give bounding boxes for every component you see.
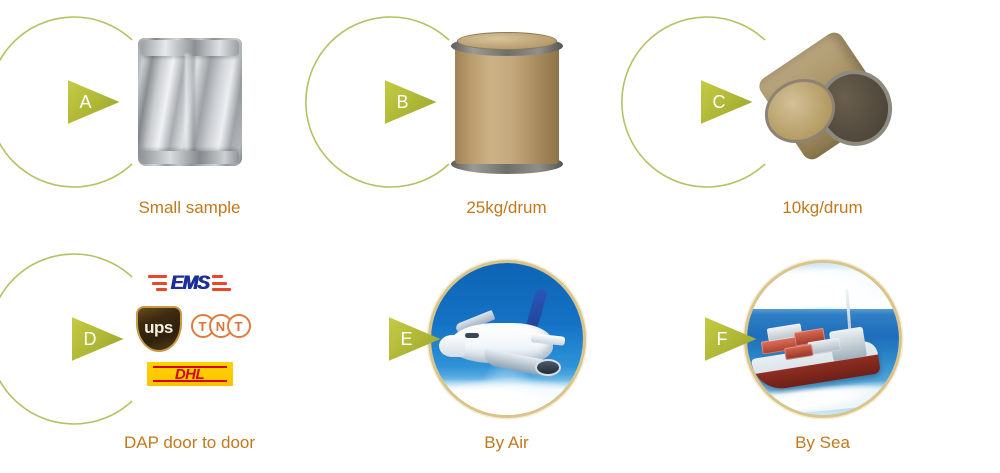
arrow-triangle-icon — [68, 80, 120, 124]
step-letter: D — [84, 330, 97, 348]
circle-badge-by-air: E — [419, 251, 595, 427]
cargo-plane-photo — [431, 263, 583, 415]
step-arrow-b: B — [385, 80, 437, 124]
step-arrow-a: A — [68, 80, 120, 124]
step-letter: A — [80, 93, 92, 111]
item-by-sea[interactable]: F By Sea — [656, 237, 989, 473]
ems-speed-lines-right — [212, 275, 231, 291]
dhl-banner: DHL — [147, 362, 233, 386]
step-letter: E — [401, 330, 413, 348]
ups-logo-icon: ups — [133, 305, 185, 353]
circle-badge-by-sea: F — [735, 251, 911, 427]
step-arrow-e: E — [389, 317, 441, 361]
dhl-wordmark: DHL — [175, 367, 204, 382]
item-dap-door-to-door[interactable]: EMS ups T N T DHL — [23, 237, 356, 473]
plane-engine-icon — [535, 359, 561, 376]
step-letter: C — [713, 93, 726, 111]
ems-speed-lines-left — [148, 275, 167, 291]
tnt-letter-3: T — [227, 314, 251, 338]
ems-logo-icon: EMS — [140, 271, 240, 295]
circle-badge-small-sample: A — [102, 14, 278, 190]
item-by-air[interactable]: E By Air — [340, 237, 673, 473]
step-letter: B — [397, 93, 409, 111]
ups-shield-icon: ups — [136, 306, 182, 352]
circle-badge-25kg-drum: B — [419, 14, 595, 190]
caption-small-sample: Small sample — [23, 198, 356, 218]
arrow-triangle-icon — [72, 317, 124, 361]
caption-by-air: By Air — [340, 433, 673, 453]
plane-nose-icon — [439, 335, 465, 357]
dhl-logo-icon: DHL — [147, 361, 233, 387]
clouds-icon — [431, 375, 583, 415]
item-10kg-drum[interactable]: C 10kg/drum — [656, 0, 989, 236]
tnt-logo-icon: T N T — [190, 311, 252, 341]
arrow-triangle-icon — [701, 80, 753, 124]
circle-badge-dap: EMS ups T N T DHL — [102, 251, 278, 427]
step-arrow-c: C — [701, 80, 753, 124]
packaging-shipping-infographic: A Small sample B 25kg/drum — [0, 0, 1000, 473]
caption-by-sea: By Sea — [656, 433, 989, 453]
arrow-triangle-icon — [389, 317, 441, 361]
ems-wordmark: EMS — [167, 274, 211, 293]
caption-10kg-drum: 10kg/drum — [656, 198, 989, 218]
step-arrow-d: D — [72, 317, 124, 361]
fiber-drum-icon — [451, 30, 563, 174]
courier-logos: EMS ups T N T DHL — [102, 251, 278, 427]
arrow-triangle-icon — [385, 80, 437, 124]
container-ship-photo — [747, 263, 899, 415]
open-drum-icon — [748, 42, 898, 162]
step-arrow-f: F — [705, 317, 757, 361]
arrow-triangle-icon — [705, 317, 757, 361]
plane-cockpit-icon — [465, 333, 479, 338]
ups-wordmark: ups — [144, 319, 173, 336]
foil-pouch-icon — [138, 38, 242, 166]
caption-25kg-drum: 25kg/drum — [340, 198, 673, 218]
step-letter: F — [717, 330, 728, 348]
caption-dap-door-to-door: DAP door to door — [23, 433, 356, 453]
sea-clouds-icon — [747, 263, 899, 309]
circle-badge-10kg-drum: C — [735, 14, 911, 190]
